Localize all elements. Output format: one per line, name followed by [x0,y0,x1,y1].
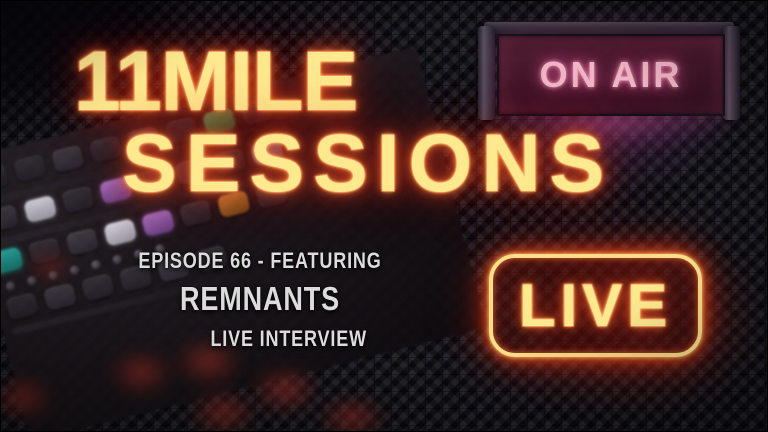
foreground-pad-bokeh [110,352,172,398]
show-title-line-1: 11MILE [74,33,357,130]
on-air-frame-post-right [723,26,740,120]
foreground-pad-bokeh [320,398,384,432]
live-neon-sign: LIVE [489,254,702,357]
foreground-pad-bokeh [0,378,52,422]
live-label: LIVE [519,271,672,340]
foreground-pad-bokeh [28,250,72,284]
show-title-line-2: SESSIONS [122,117,613,211]
live-neon-border: LIVE [489,254,702,357]
on-air-frame-post-left [478,26,495,120]
stream-overlay-banner: ON AIR 11MILE SESSIONS LIVE EPISODE 66 -… [0,0,768,432]
episode-headline: EPISODE 66 - FEATURING [129,248,391,274]
on-air-sign: ON AIR [478,22,740,126]
foreground-pad-bokeh [190,392,256,432]
episode-guest-name: REMNANTS [129,280,391,318]
episode-info-block: EPISODE 66 - FEATURING REMNANTS LIVE INT… [100,248,420,352]
on-air-lightbox: ON AIR [497,34,725,116]
episode-format-label: LIVE INTERVIEW [129,326,391,352]
on-air-label: ON AIR [540,54,683,96]
foreground-pad-bokeh [252,368,318,416]
